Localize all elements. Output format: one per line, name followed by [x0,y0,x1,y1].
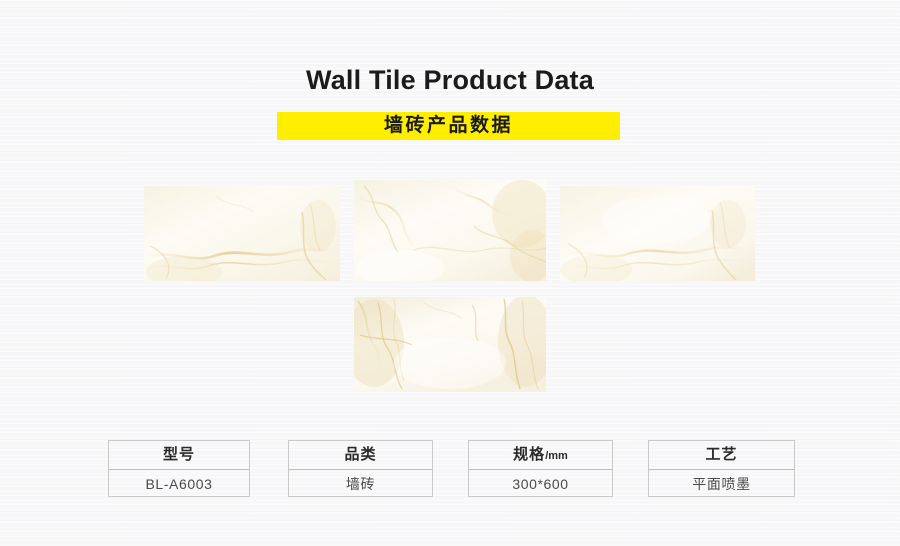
marble-texture-icon [560,186,755,281]
spec-value-process: 平面喷墨 [649,470,794,498]
spec-header-process: 工艺 [649,441,794,470]
spec-header-size-unit: /mm [545,450,568,462]
spec-value-category: 墙砖 [289,470,432,498]
spec-cell-process: 工艺 平面喷墨 [648,440,795,497]
title-block: Wall Tile Product Data [0,64,900,96]
page-title: Wall Tile Product Data [0,64,900,96]
spec-header-size-label: 规格 [513,446,545,463]
spec-cell-category: 品类 墙砖 [288,440,433,497]
marble-texture-icon [144,186,340,281]
wall-tile-photo-4 [354,297,546,392]
spec-value-model: BL-A6003 [109,470,249,498]
spec-header-model-label: 型号 [163,446,195,463]
marble-texture-icon [354,297,546,392]
subtitle-banner: 墙砖产品数据 [277,112,620,140]
spec-header-process-label: 工艺 [705,446,737,463]
marble-texture-icon [354,180,546,281]
spec-header-size: 规格/mm [469,441,612,470]
spec-cell-size: 规格/mm 300*600 [468,440,613,497]
spec-header-category-label: 品类 [344,446,376,463]
wall-tile-photo-2 [354,180,546,281]
spec-value-size: 300*600 [469,470,612,498]
spec-header-model: 型号 [109,441,249,470]
wall-tile-photo-1 [144,186,340,281]
spec-cell-model: 型号 BL-A6003 [108,440,250,497]
product-data-page: Wall Tile Product Data 墙砖产品数据 [0,0,900,546]
wall-tile-photo-3 [560,186,755,281]
subtitle-label: 墙砖产品数据 [384,115,513,137]
spec-header-category: 品类 [289,441,432,470]
